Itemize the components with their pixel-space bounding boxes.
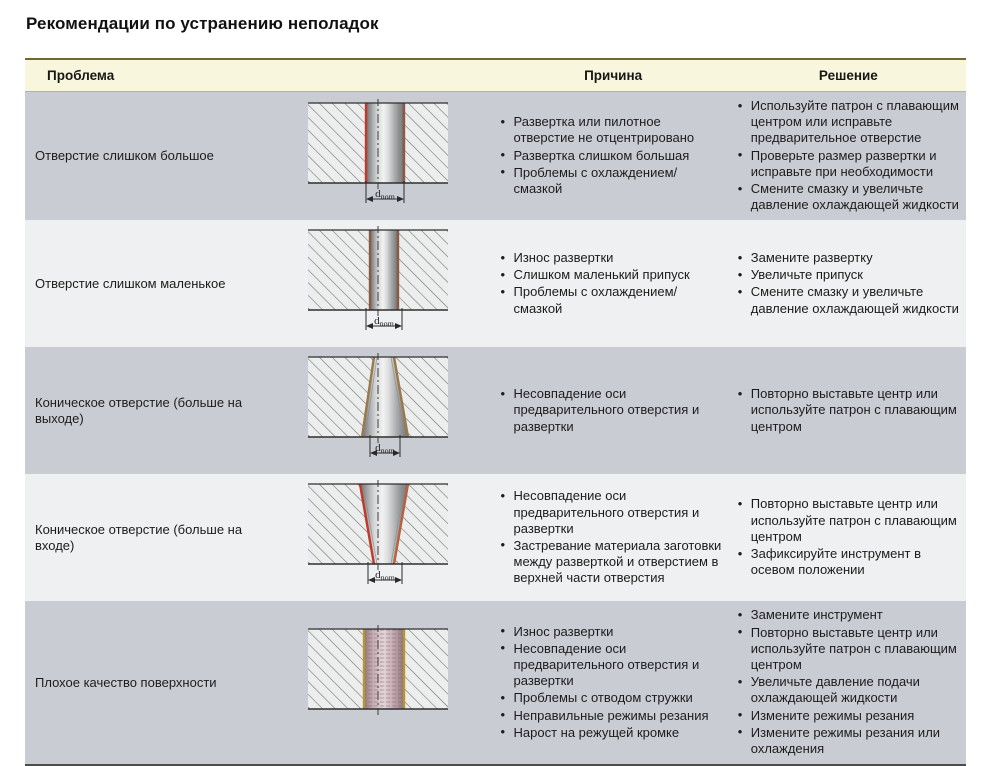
cause-item: Развертка слишком большая bbox=[500, 148, 723, 164]
cause-item: Проблемы с отводом стружки bbox=[500, 690, 723, 706]
cause-item: Застревание материала заготовки между ра… bbox=[500, 538, 723, 587]
svg-text:dnom: dnom bbox=[375, 188, 396, 202]
problem-cell: Коническое отверстие (больше на входе) bbox=[25, 474, 260, 601]
table-row: Плохое качество поверхностиИзнос разверт… bbox=[25, 601, 966, 765]
solution-item: Зафиксируйте инструмент в осевом положен… bbox=[737, 546, 960, 578]
cause-item: Нарост на режущей кромке bbox=[500, 725, 723, 741]
cause-item: Износ развертки bbox=[500, 250, 723, 266]
cause-list: Несовпадение оси предварительного отверс… bbox=[500, 386, 723, 435]
poor-surface-finish-diagram bbox=[302, 625, 454, 735]
solution-cell: Замените разверткуУвеличьте припускСмени… bbox=[731, 220, 966, 347]
cause-item: Несовпадение оси предварительного отверс… bbox=[500, 386, 723, 435]
table-row: Отверстие слишком маленькоеdnomИзнос раз… bbox=[25, 220, 966, 347]
solution-cell: Повторно выставьте центр или используйте… bbox=[731, 347, 966, 474]
figure-cell: dnom bbox=[260, 92, 495, 221]
problem-cell: Плохое качество поверхности bbox=[25, 601, 260, 765]
solution-item: Замените развертку bbox=[737, 250, 960, 266]
problem-cell: Отверстие слишком большое bbox=[25, 92, 260, 221]
svg-text:dnom: dnom bbox=[374, 315, 395, 329]
table-body: Отверстие слишком большоеdnomРазвертка и… bbox=[25, 92, 966, 766]
cause-list: Развертка или пилотное отверстие не отце… bbox=[500, 114, 723, 197]
figure-cell: dnom bbox=[260, 474, 495, 601]
solution-list: Замените разверткуУвеличьте припускСмени… bbox=[737, 250, 960, 317]
solution-item: Увеличьте давление подачи охлаждающей жи… bbox=[737, 674, 960, 706]
solution-item: Увеличьте припуск bbox=[737, 267, 960, 283]
column-header-cause: Причина bbox=[496, 59, 731, 92]
solution-item: Повторно выставьте центр или используйте… bbox=[737, 386, 960, 435]
svg-text:dnom: dnom bbox=[375, 442, 396, 456]
column-header-problem: Проблема bbox=[25, 59, 496, 92]
cause-cell: Несовпадение оси предварительного отверс… bbox=[496, 347, 731, 474]
hole-too-small-diagram: dnom bbox=[302, 226, 454, 336]
solution-cell: Повторно выставьте центр или используйте… bbox=[731, 474, 966, 601]
solution-item: Смените смазку и увеличьте давление охла… bbox=[737, 181, 960, 213]
solution-item: Используйте патрон с плавающим центром и… bbox=[737, 98, 960, 147]
cause-item: Несовпадение оси предварительного отверс… bbox=[500, 641, 723, 690]
solution-item: Измените режимы резания или охлаждения bbox=[737, 725, 960, 757]
taper-wider-at-exit-diagram: dnom bbox=[302, 353, 454, 463]
table-row: Коническое отверстие (больше на выходе)d… bbox=[25, 347, 966, 474]
solution-item: Замените инструмент bbox=[737, 607, 960, 623]
solution-list: Повторно выставьте центр или используйте… bbox=[737, 496, 960, 578]
cause-item: Износ развертки bbox=[500, 624, 723, 640]
solution-item: Повторно выставьте центр или используйте… bbox=[737, 625, 960, 674]
cause-item: Неправильные режимы резания bbox=[500, 708, 723, 724]
solution-list: Замените инструментПовторно выставьте це… bbox=[737, 607, 960, 757]
solution-item: Измените режимы резания bbox=[737, 708, 960, 724]
table-header: Проблема Причина Решение bbox=[25, 59, 966, 92]
cause-list: Несовпадение оси предварительного отверс… bbox=[500, 488, 723, 586]
solution-list: Повторно выставьте центр или используйте… bbox=[737, 386, 960, 435]
table-header-row: Проблема Причина Решение bbox=[25, 59, 966, 92]
cause-cell: Несовпадение оси предварительного отверс… bbox=[496, 474, 731, 601]
column-header-solution: Решение bbox=[731, 59, 966, 92]
problem-cell: Отверстие слишком маленькое bbox=[25, 220, 260, 347]
cause-list: Износ разверткиСлишком маленький припуск… bbox=[500, 250, 723, 317]
figure-cell: dnom bbox=[260, 220, 495, 347]
solution-cell: Используйте патрон с плавающим центром и… bbox=[731, 92, 966, 221]
solution-item: Повторно выставьте центр или используйте… bbox=[737, 496, 960, 545]
figure-cell bbox=[260, 601, 495, 765]
solution-list: Используйте патрон с плавающим центром и… bbox=[737, 98, 960, 213]
troubleshooting-table: Проблема Причина Решение Отверстие слишк… bbox=[25, 58, 966, 766]
troubleshooting-table-container: Проблема Причина Решение Отверстие слишк… bbox=[25, 58, 966, 766]
table-row: Отверстие слишком большоеdnomРазвертка и… bbox=[25, 92, 966, 221]
svg-text:dnom: dnom bbox=[375, 569, 396, 583]
cause-cell: Развертка или пилотное отверстие не отце… bbox=[496, 92, 731, 221]
cause-item: Несовпадение оси предварительного отверс… bbox=[500, 488, 723, 537]
cause-cell: Износ разверткиСлишком маленький припуск… bbox=[496, 220, 731, 347]
solution-cell: Замените инструментПовторно выставьте це… bbox=[731, 601, 966, 765]
solution-item: Проверьте размер развертки и исправьте п… bbox=[737, 148, 960, 180]
solution-item: Смените смазку и увеличьте давление охла… bbox=[737, 284, 960, 316]
page-title: Рекомендации по устранению неполадок bbox=[26, 14, 379, 34]
figure-cell: dnom bbox=[260, 347, 495, 474]
cause-item: Проблемы с охлаждением/смазкой bbox=[500, 284, 723, 316]
cause-item: Слишком маленький припуск bbox=[500, 267, 723, 283]
cause-cell: Износ разверткиНесовпадение оси предвари… bbox=[496, 601, 731, 765]
table-row: Коническое отверстие (больше на входе)dn… bbox=[25, 474, 966, 601]
cause-item: Развертка или пилотное отверстие не отце… bbox=[500, 114, 723, 146]
cause-list: Износ разверткиНесовпадение оси предвари… bbox=[500, 624, 723, 741]
cause-item: Проблемы с охлаждением/смазкой bbox=[500, 165, 723, 197]
taper-wider-at-entry-diagram: dnom bbox=[302, 480, 454, 590]
hole-too-large-diagram: dnom bbox=[302, 99, 454, 209]
problem-cell: Коническое отверстие (больше на выходе) bbox=[25, 347, 260, 474]
